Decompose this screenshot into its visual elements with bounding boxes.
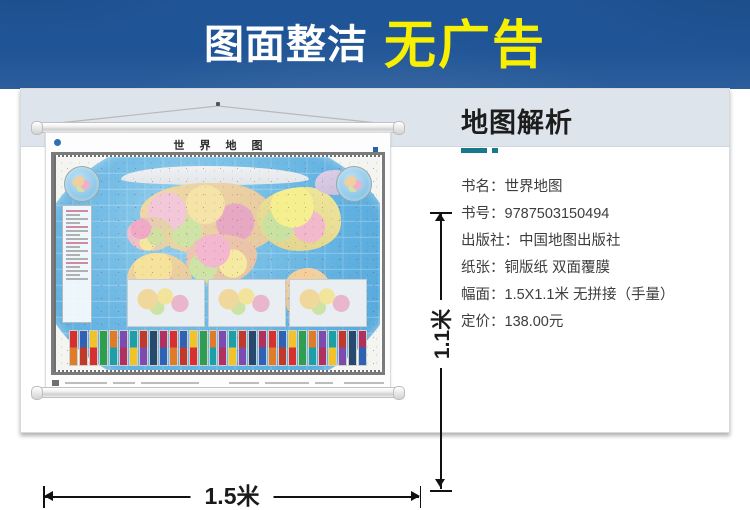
- width-dimension-label: 1.5米: [191, 483, 274, 509]
- flag-cell: [308, 330, 317, 366]
- flag-cell: [79, 330, 88, 366]
- flag-cell: [139, 330, 148, 366]
- map-footer-credits: [52, 378, 384, 387]
- country-flags-strip: [69, 330, 367, 366]
- heading-accent-underline: [461, 148, 716, 153]
- height-dimension: 1.1米: [421, 209, 461, 493]
- map-canvas: [56, 157, 380, 370]
- map-corner-mark-icon: [372, 139, 382, 145]
- rail-knob-left: [31, 121, 43, 135]
- content-card: 世界地图: [20, 88, 730, 433]
- flag-cell: [189, 330, 198, 366]
- flag-cell: [248, 330, 257, 366]
- flag-cell: [149, 330, 158, 366]
- banner-headline-yellow: 无广告: [384, 20, 546, 72]
- flag-cell: [338, 330, 347, 366]
- spec-row-price: 定价：138.00元: [461, 309, 716, 336]
- flag-cell: [238, 330, 247, 366]
- flag-cell: [179, 330, 188, 366]
- flag-cell: [328, 330, 337, 366]
- flag-cell: [358, 330, 367, 366]
- inset-hemisphere-right: [336, 166, 372, 202]
- flag-cell: [348, 330, 357, 366]
- map-publisher-mark-icon: [54, 139, 61, 146]
- inset-map: [208, 279, 286, 328]
- spec-row-isbn: 书号：9787503150494: [461, 201, 716, 228]
- inset-hemisphere-left: [64, 166, 100, 202]
- bottom-rail-knob-right: [393, 386, 405, 400]
- flag-cell: [268, 330, 277, 366]
- flag-cell: [218, 330, 227, 366]
- banner-text-group: 图面整洁 无广告: [0, 0, 750, 89]
- inset-map: [127, 279, 205, 328]
- rail-knob-right: [393, 121, 405, 135]
- map-legend-box: [62, 205, 92, 323]
- flag-cell: [288, 330, 297, 366]
- flag-cell: [169, 330, 178, 366]
- flag-cell: [159, 330, 168, 366]
- map-spec-panel: 地图解析 书名：世界地图 书号：9787503150494 出版社：中国地图出版…: [461, 109, 716, 336]
- flag-cell: [69, 330, 78, 366]
- hanging-hook-icon: [216, 102, 220, 106]
- spec-row-size: 幅面：1.5X1.1米 无拼接（手量）: [461, 282, 716, 309]
- flag-cell: [119, 330, 128, 366]
- spec-panel-heading: 地图解析: [461, 109, 716, 139]
- height-dimension-label: 1.1米: [424, 300, 458, 368]
- page-root: 图面整洁 无广告 世界地图: [0, 0, 750, 475]
- inset-map: [289, 279, 367, 328]
- bottom-rail-knob-left: [31, 386, 43, 400]
- banner-headline-white: 图面整洁: [204, 25, 368, 65]
- world-map-product-image[interactable]: 世界地图: [33, 102, 403, 409]
- flag-cell: [298, 330, 307, 366]
- flag-cell: [318, 330, 327, 366]
- flag-cell: [199, 330, 208, 366]
- flag-cell: [89, 330, 98, 366]
- inset-thematic-maps: [127, 281, 367, 328]
- flag-cell: [258, 330, 267, 366]
- map-sheet-title: 世界地图: [46, 137, 390, 153]
- spec-list: 书名：世界地图 书号：9787503150494 出版社：中国地图出版社 纸张：…: [461, 174, 716, 336]
- map-sheet: 世界地图: [45, 132, 391, 390]
- map-neatline-frame: [51, 152, 385, 375]
- flag-cell: [99, 330, 108, 366]
- map-bottom-rail: [37, 387, 399, 398]
- flag-cell: [129, 330, 138, 366]
- flag-cell: [228, 330, 237, 366]
- flag-cell: [109, 330, 118, 366]
- spec-row-paper: 纸张：铜版纸 双面覆膜: [461, 255, 716, 282]
- flag-cell: [278, 330, 287, 366]
- flag-cell: [209, 330, 218, 366]
- spec-row-title: 书名：世界地图: [461, 174, 716, 201]
- width-dimension: 1.5米: [41, 484, 423, 510]
- promo-banner: 图面整洁 无广告: [0, 0, 750, 89]
- spec-row-publisher: 出版社：中国地图出版社: [461, 228, 716, 255]
